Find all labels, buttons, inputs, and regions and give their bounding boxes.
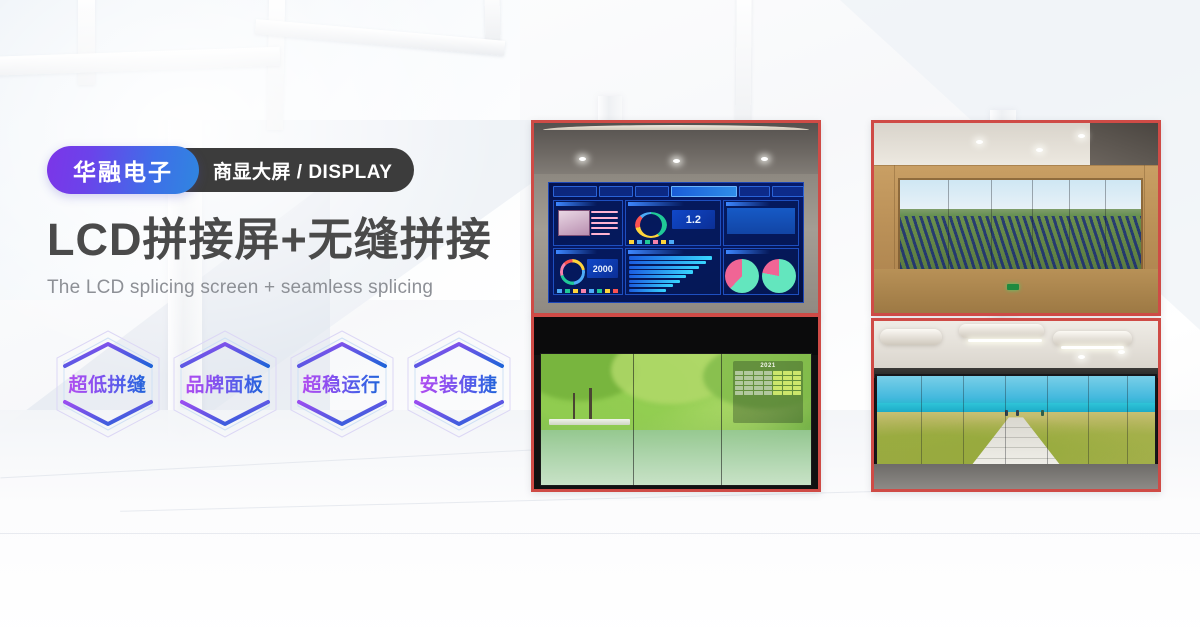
- category-badge: 商显大屏 / DISPLAY: [165, 148, 414, 192]
- pie-chart-pair: [724, 263, 798, 290]
- dashboard-panel-grid: 1.2 2000: [551, 198, 801, 297]
- dashboard-panel: [553, 200, 622, 247]
- panel-legend: [629, 232, 715, 244]
- feature-label: 超低拼缝: [68, 370, 146, 397]
- screen-bezel-top: [534, 317, 818, 355]
- dashboard-tab: [739, 186, 770, 197]
- panel-kpi-value: 2000: [587, 259, 618, 278]
- floor: [874, 464, 1158, 489]
- feature-item-1: 超低拼缝: [49, 325, 166, 443]
- dashboard-panel: [723, 200, 799, 247]
- railing: [549, 419, 630, 424]
- panel-kpi-value: 1.2: [672, 210, 715, 229]
- dashboard-tab: [599, 186, 633, 197]
- dashboard-tab: [635, 186, 669, 197]
- headline-block: 华融电子 商显大屏 / DISPLAY LCD拼接屏+无缝拼接 The LCD …: [47, 146, 517, 443]
- feature-item-3: 超稳运行: [283, 325, 400, 443]
- dashboard-tab: [772, 186, 803, 197]
- photo-garden-pond-video-wall: 2021: [531, 314, 821, 492]
- brand-badge: 华融电子: [47, 146, 199, 194]
- lcd-video-wall: [900, 180, 1141, 271]
- photo-solar-farm-video-wall: [871, 120, 1161, 316]
- dashboard-panel: [723, 248, 799, 295]
- panel-thumbnail: [558, 210, 590, 235]
- photo-content: 2021: [534, 317, 818, 489]
- photo-content: [874, 321, 1158, 489]
- dashboard-panel: [625, 248, 721, 295]
- page-subtitle: The LCD splicing screen + seamless splic…: [47, 277, 517, 299]
- feature-label: 超稳运行: [302, 370, 380, 397]
- pond-water: [541, 430, 812, 485]
- feature-label: 品牌面板: [185, 370, 263, 397]
- page-title: LCD拼接屏+无缝拼接: [47, 216, 517, 265]
- panel-header: [556, 250, 596, 254]
- process-flow-diagram: [727, 208, 795, 234]
- feature-hexagon-list: 超低拼缝 品牌面板: [49, 325, 517, 443]
- ceiling-cove: [543, 125, 810, 130]
- panel-header: [628, 250, 684, 254]
- panel-text-lines: [591, 211, 618, 234]
- lcd-video-wall: 2021: [540, 353, 813, 485]
- photo-content: 1.2 2000: [534, 123, 818, 313]
- feature-item-2: 品牌面板: [166, 325, 283, 443]
- dashboard-panel: 1.2: [625, 200, 721, 247]
- downlight: [673, 159, 680, 163]
- panel-header: [628, 202, 684, 206]
- dashboard-screen: 1.2 2000: [548, 182, 804, 304]
- ceiling-dark-panel: [1090, 123, 1158, 171]
- dashboard-tab-bar: [551, 185, 801, 198]
- floor: [874, 269, 1158, 313]
- lcd-splicing-screen-banner: 华融电子 商显大屏 / DISPLAY LCD拼接屏+无缝拼接 The LCD …: [0, 0, 1200, 640]
- downlight: [579, 157, 586, 161]
- ceiling: [534, 123, 818, 174]
- photo-control-room-dashboard: 1.2 2000: [531, 120, 821, 316]
- calendar-overlay: 2021: [733, 361, 803, 424]
- feature-label: 安装便捷: [419, 370, 497, 397]
- dashboard-timestamp: [553, 186, 597, 197]
- pie-chart: [725, 259, 759, 293]
- panel-header: [726, 202, 770, 206]
- lcd-video-wall: [877, 376, 1155, 465]
- calendar-title: 2021: [735, 363, 801, 370]
- panel-header: [726, 250, 770, 254]
- dashboard-title-tab: [671, 186, 737, 197]
- photo-beach-boardwalk-video-wall: [871, 318, 1161, 492]
- brand-badge-row: 华融电子 商显大屏 / DISPLAY: [47, 146, 517, 194]
- feature-item-4: 安装便捷: [400, 325, 517, 443]
- floor-line-3: [0, 533, 1200, 534]
- exit-sign-icon: [1007, 284, 1019, 290]
- panel-legend: [557, 281, 619, 293]
- pie-chart: [762, 259, 796, 293]
- downlight: [761, 157, 768, 161]
- photo-content: [874, 123, 1158, 313]
- downlight: [1036, 148, 1043, 152]
- calendar-grid: [735, 371, 801, 395]
- bar-chart: [629, 256, 715, 292]
- dashboard-panel: 2000: [553, 248, 622, 295]
- panel-header: [556, 202, 596, 206]
